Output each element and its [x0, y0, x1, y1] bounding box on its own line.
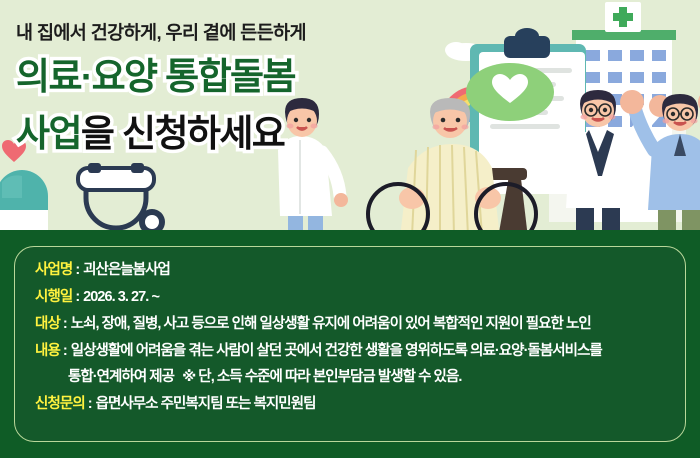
headline-line-1: 의료·요양 통합돌봄 — [16, 54, 416, 101]
stethoscope-head — [78, 163, 165, 235]
separator: : — [60, 315, 71, 333]
separator: : — [72, 288, 83, 306]
headline-line-1-text: 의료·요양 통합돌봄 — [16, 56, 295, 97]
separator: : — [60, 342, 71, 360]
value-contact: 읍면사무소 주민복지팀 또는 복지민원팀 — [96, 395, 316, 413]
care-service-banner: 내 집에서 건강하게, 우리 곁에 든든하게 의료·요양 통합돌봄 사업을 신청… — [0, 0, 700, 458]
heart-badge-icon — [466, 63, 554, 121]
info-row-content-continuation: 통합·연계하여 제공 ※ 단, 소득 수준에 따라 본인부담금 발생할 수 있음… — [68, 368, 669, 386]
label-content: 내용 — [35, 342, 60, 360]
info-row-contact: 신청문의 : 읍면사무소 주민복지팀 또는 복지민원팀 — [35, 395, 669, 413]
headline-block: 내 집에서 건강하게, 우리 곁에 든든하게 의료·요양 통합돌봄 사업을 신청… — [16, 22, 416, 157]
label-start-date: 시행일 — [35, 288, 72, 306]
value-content: 일상생활에 어려움을 겪는 사람이 살던 곳에서 건강한 생활을 영위하도록 의… — [71, 342, 602, 360]
label-program-name: 사업명 — [35, 261, 72, 279]
info-row-target: 대상 : 노쇠, 장애, 질병, 사고 등으로 인해 일상생활 유지에 어려움이… — [35, 315, 669, 333]
headline-line-2-green: 사업 — [16, 113, 81, 154]
label-target: 대상 — [35, 315, 60, 333]
info-row-program-name: 사업명 : 괴산은늘봄사업 — [35, 261, 669, 279]
value-start-date: 2026. 3. 27. ~ — [83, 288, 159, 306]
subtitle: 내 집에서 건강하게, 우리 곁에 든든하게 — [16, 22, 416, 44]
separator: : — [85, 395, 96, 413]
info-row-content: 내용 : 일상생활에 어려움을 겪는 사람이 살던 곳에서 건강한 생활을 영위… — [35, 342, 669, 360]
info-panel: 사업명 : 괴산은늘봄사업 시행일 : 2026. 3. 27. ~ 대상 : … — [14, 246, 686, 442]
value-program-name: 괴산은늘봄사업 — [83, 261, 170, 279]
label-contact: 신청문의 — [35, 395, 85, 413]
headline-line-2: 사업을 신청하세요 — [16, 111, 416, 158]
content-note: ※ 단, 소득 수준에 따라 본인부담금 발생할 수 있음. — [174, 368, 461, 386]
info-row-start-date: 시행일 : 2026. 3. 27. ~ — [35, 288, 669, 306]
separator: : — [72, 261, 83, 279]
headline-line-2-dark: 을 신청하세요 — [81, 113, 284, 154]
value-content-continuation: 통합·연계하여 제공 — [68, 368, 174, 386]
value-target: 노쇠, 장애, 질병, 사고 등으로 인해 일상생활 유지에 어려움이 있어 복… — [71, 315, 591, 333]
medical-cross-icon — [605, 2, 641, 32]
